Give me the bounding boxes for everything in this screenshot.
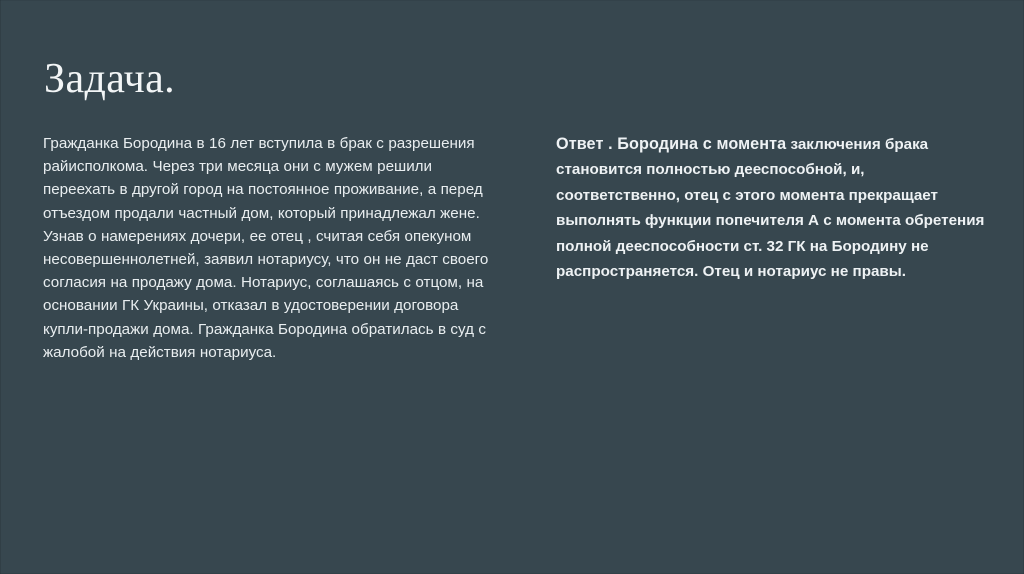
page-title: Задача.	[44, 54, 175, 104]
slide: Задача. Гражданка Бородина в 16 лет всту…	[0, 0, 1024, 574]
problem-statement-text: Гражданка Бородина в 16 лет вступила в б…	[43, 132, 495, 364]
right-column: Ответ . Бородина с момента заключения бр…	[556, 132, 992, 284]
content-columns: Гражданка Бородина в 16 лет вступила в б…	[0, 132, 1024, 432]
left-column: Гражданка Бородина в 16 лет вступила в б…	[43, 132, 495, 364]
answer-text: Ответ . Бородина с момента заключения бр…	[556, 132, 992, 284]
answer-lead-label: Ответ . Бородина с момента	[556, 135, 786, 153]
answer-body-text: заключения брака становится полностью де…	[556, 136, 984, 280]
